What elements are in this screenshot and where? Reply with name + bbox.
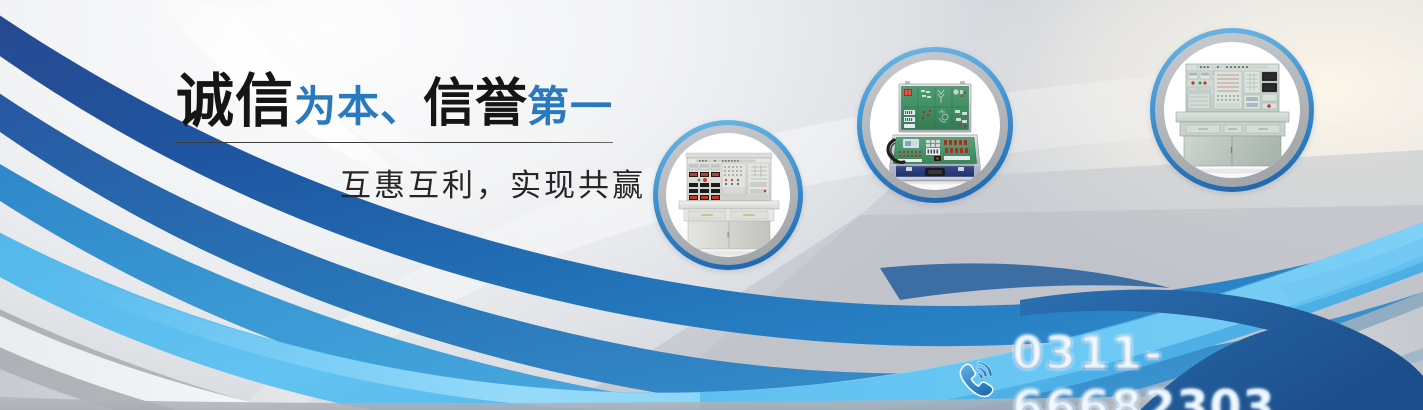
product-circle-1-photo: [666, 133, 790, 257]
headline-part-2: 为本、: [294, 82, 423, 131]
portable-electronics-training-case-illustration: [870, 60, 1000, 190]
headline-part-1: 诚信: [176, 67, 294, 135]
motor-control-training-bench-illustration: [1164, 42, 1300, 178]
headline-part-4: 第一: [527, 82, 613, 131]
headline-divider-rule: [176, 142, 613, 143]
product-circle-1[interactable]: [653, 120, 803, 270]
product-circle-3-photo: [1164, 42, 1300, 178]
subheadline: 互惠互利，实现共赢: [340, 160, 646, 205]
phone-call-icon[interactable]: [952, 357, 997, 403]
product-circle-3[interactable]: [1150, 28, 1314, 192]
phone-number[interactable]: 0311-66682303: [1011, 326, 1275, 410]
product-circle-1-ring: [658, 125, 798, 265]
electrical-training-workbench-illustration: [666, 133, 790, 257]
product-circle-2-ring: [862, 52, 1008, 198]
product-circle-2[interactable]: [857, 47, 1013, 203]
promotional-banner: 诚信为本、信誉第一 互惠互利，实现共赢: [0, 0, 1423, 410]
contact-phone[interactable]: 0311-66682303 0311-66682303: [952, 326, 1423, 410]
headline-part-3: 信誉: [423, 74, 527, 134]
product-circle-3-ring: [1155, 33, 1309, 187]
product-circle-2-photo: [870, 60, 1000, 190]
headline: 诚信为本、信誉第一: [176, 72, 613, 130]
